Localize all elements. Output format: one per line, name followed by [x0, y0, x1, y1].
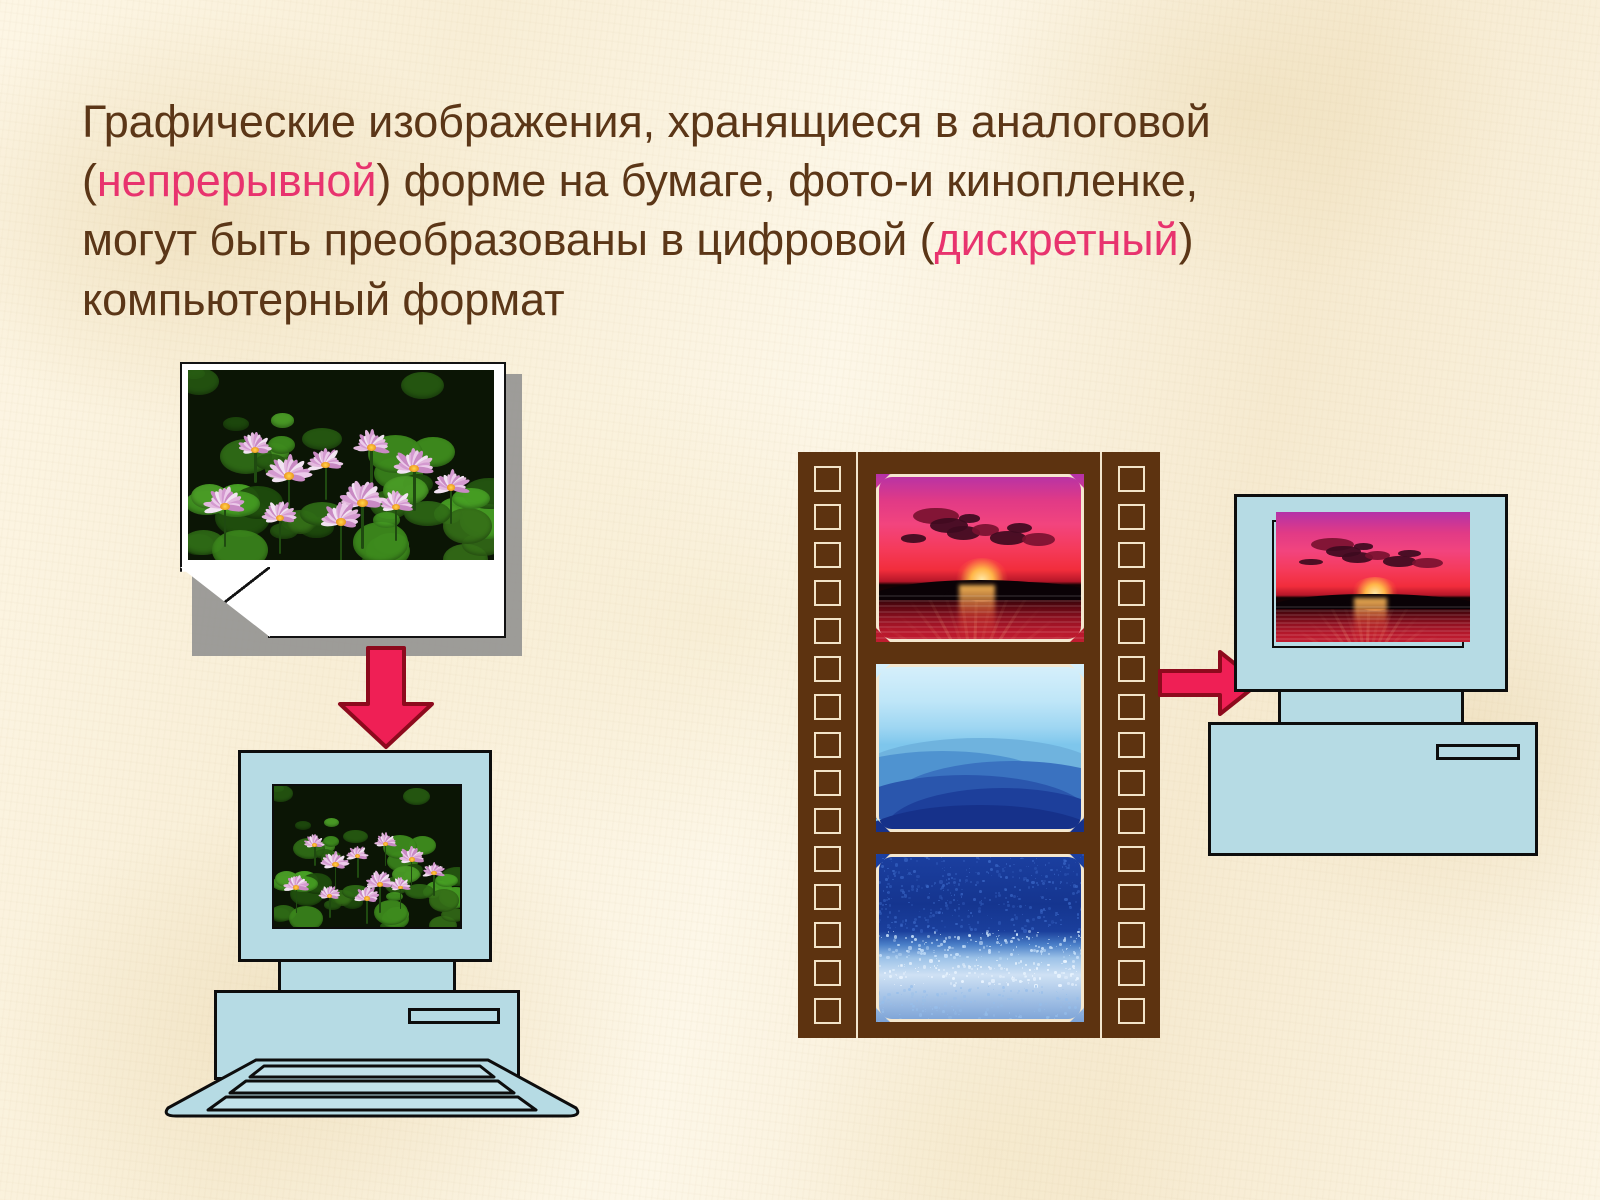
film-divider-left: [856, 452, 858, 1038]
frost-speck: [958, 904, 959, 905]
frost-speck: [971, 968, 973, 970]
frost-speck: [916, 879, 918, 881]
water-lily-flower: [354, 431, 388, 465]
frost-speck: [1005, 897, 1007, 899]
frost-speck: [1037, 865, 1038, 866]
frost-speck: [958, 883, 961, 886]
frost-speck: [938, 969, 940, 971]
frost-speck: [1004, 888, 1007, 891]
water-wave: [876, 611, 1084, 613]
frost-speck: [988, 860, 991, 863]
frost-speck: [1010, 858, 1011, 859]
frost-speck: [1002, 986, 1005, 989]
frost-speck: [887, 927, 888, 928]
title-line1-text: Графические изображения, хранящиеся в ан…: [82, 96, 1211, 147]
frost-speck: [1068, 1002, 1070, 1004]
frost-speck: [954, 894, 956, 896]
frost-speck: [1045, 910, 1046, 911]
frost-speck: [889, 970, 891, 972]
frost-speck: [951, 877, 953, 879]
film-perforation: [1118, 580, 1145, 606]
lily-pad: [188, 370, 219, 395]
frost-speck: [924, 943, 925, 944]
frost-speck: [936, 958, 937, 959]
frost-speck: [918, 944, 921, 947]
frost-speck: [1054, 1021, 1055, 1022]
frost-speck: [947, 949, 949, 951]
frost-speck: [1019, 889, 1021, 891]
frost-speck: [902, 891, 905, 894]
frost-speck: [910, 1003, 912, 1005]
frost-speck: [1060, 883, 1061, 884]
frost-speck: [940, 888, 942, 890]
frost-speck: [881, 908, 883, 910]
frost-speck: [995, 892, 997, 894]
film-perforation: [1118, 884, 1145, 910]
frost-speck: [1045, 864, 1046, 865]
frost-speck: [934, 882, 936, 884]
frost-speck: [1017, 896, 1018, 897]
frost-speck: [878, 1021, 880, 1022]
water-wave: [1276, 638, 1470, 640]
frost-speck: [992, 933, 993, 934]
frost-speck: [943, 890, 944, 891]
film-perforation: [814, 846, 841, 872]
frost-speck: [921, 887, 923, 889]
frost-speck: [1071, 983, 1074, 986]
frost-speck: [967, 942, 968, 943]
frost-speck: [1064, 898, 1067, 901]
film-perforation: [1118, 618, 1145, 644]
frost-speck: [885, 878, 887, 880]
frost-speck: [1010, 998, 1012, 1000]
frost-speck: [1046, 888, 1047, 889]
frost-speck: [1057, 914, 1058, 915]
frost-speck: [927, 919, 929, 921]
frost-speck: [968, 910, 969, 911]
frost-speck: [1041, 947, 1044, 950]
title-line2-rest: ) форме на бумаге, фото-и кинопленке,: [376, 155, 1198, 206]
frost-speck: [916, 890, 918, 892]
frost-speck: [1032, 886, 1034, 888]
frost-speck: [1022, 967, 1024, 969]
frost-speck: [1082, 986, 1083, 987]
frost-speck: [879, 965, 881, 967]
frost-speck: [987, 934, 989, 936]
frost-speck: [1027, 979, 1029, 981]
frost-speck: [942, 912, 944, 914]
frost-speck: [1069, 968, 1072, 971]
frost-speck: [890, 1003, 892, 1005]
frost-speck: [1021, 999, 1024, 1002]
frost-speck: [1068, 867, 1070, 869]
frost-speck: [917, 951, 920, 954]
lily-pad: [212, 530, 268, 560]
frost-speck: [1028, 937, 1031, 940]
frost-speck: [1072, 882, 1073, 883]
frost-speck: [1069, 906, 1071, 908]
frost-speck: [1073, 871, 1075, 873]
frost-speck: [888, 898, 890, 900]
frost-speck: [970, 912, 972, 914]
monitor-right-neck: [1278, 692, 1464, 724]
frost-speck: [1036, 882, 1038, 884]
water-wave: [1276, 606, 1470, 608]
frost-speck: [948, 1016, 951, 1019]
frost-speck: [962, 902, 965, 905]
lily-pad: [295, 821, 311, 829]
water-lily-flower: [284, 876, 308, 900]
frost-speck: [1048, 862, 1050, 864]
frost-speck: [1082, 1014, 1083, 1015]
frost-speck: [1037, 963, 1040, 966]
frost-speck: [968, 934, 971, 937]
frost-speck: [922, 996, 924, 998]
frost-speck: [1025, 964, 1027, 966]
frost-speck: [911, 888, 914, 891]
frost-speck: [969, 926, 972, 929]
frost-speck: [899, 976, 902, 979]
film-perforation: [814, 618, 841, 644]
frost-speck: [947, 1014, 948, 1015]
frost-speck: [947, 889, 949, 891]
frost-speck: [1025, 989, 1028, 992]
frost-speck: [877, 904, 879, 906]
frost-speck: [885, 904, 887, 906]
frost-speck: [918, 916, 921, 919]
lily-pad: [403, 788, 430, 805]
frost-speck: [952, 967, 954, 969]
frost-speck: [1082, 944, 1084, 946]
frost-speck: [1082, 854, 1084, 856]
water-lily-flower: [355, 887, 379, 911]
sunset-cloud: [990, 531, 1025, 544]
frost-speck: [978, 957, 979, 958]
frost-speck: [887, 916, 889, 918]
film-perforation: [1118, 694, 1145, 720]
frost-speck: [900, 964, 903, 967]
frost-speck: [900, 924, 903, 927]
frost-speck: [1068, 902, 1071, 905]
frost-speck: [900, 985, 901, 986]
frost-speck: [922, 940, 924, 942]
frost-speck: [954, 909, 956, 911]
frost-speck: [1016, 1016, 1017, 1017]
frost-speck: [944, 954, 947, 957]
frost-speck: [1026, 919, 1029, 922]
frost-speck: [895, 949, 897, 951]
frost-speck: [925, 942, 926, 943]
frost-speck: [970, 928, 973, 931]
frost-speck: [1047, 969, 1048, 970]
sun-reflection: [959, 585, 994, 642]
frost-speck: [954, 885, 955, 886]
frost-speck: [942, 975, 945, 978]
frost-speck: [901, 994, 902, 995]
frost-speck: [911, 904, 913, 906]
frost-speck: [997, 938, 998, 939]
frost-speck: [911, 874, 912, 875]
frost-speck: [898, 910, 900, 912]
frost-speck: [1000, 1004, 1003, 1007]
frost-speck: [993, 989, 994, 990]
sunset-cloud: [1398, 550, 1421, 558]
lily-pad: [223, 417, 249, 431]
frost-speck: [998, 894, 1001, 897]
frost-speck: [878, 919, 879, 920]
frost-speck: [911, 941, 913, 943]
frost-speck: [963, 995, 966, 998]
frost-speck: [1028, 886, 1031, 889]
water-lily-flower: [423, 863, 444, 884]
sunset-cloud: [1412, 558, 1443, 568]
lily-center: [392, 504, 400, 510]
frost-speck: [1033, 977, 1036, 980]
frost-speck: [932, 927, 934, 929]
frost-speck: [1034, 862, 1035, 863]
frost-speck: [912, 928, 915, 931]
frost-speck: [941, 920, 943, 922]
frost-speck: [980, 966, 982, 968]
frost-speck: [1064, 1012, 1067, 1015]
frost-speck: [1060, 924, 1062, 926]
frost-speck: [958, 1014, 959, 1015]
film-frame-3: [876, 854, 1084, 1022]
frost-speck: [960, 893, 963, 896]
frost-speck: [979, 941, 982, 944]
frost-speck: [968, 989, 971, 992]
frost-speck: [930, 967, 931, 968]
frost-speck: [952, 915, 953, 916]
frost-speck: [1076, 977, 1079, 980]
frost-speck: [904, 964, 905, 965]
frost-speck: [1061, 963, 1063, 965]
frost-speck: [879, 954, 882, 957]
frost-speck: [917, 971, 919, 973]
film-strip: [798, 452, 1160, 1038]
sunset-cloud: [959, 514, 980, 522]
frost-speck: [989, 946, 991, 948]
sunset-cloud: [1022, 533, 1055, 546]
frost-speck: [1069, 955, 1070, 956]
frost-speck: [1032, 918, 1035, 921]
frost-speck: [895, 871, 897, 873]
frost-speck: [977, 872, 980, 875]
lily-center: [367, 444, 376, 451]
frost-speck: [923, 952, 926, 955]
frost-speck: [936, 968, 937, 969]
frost-speck: [892, 969, 894, 971]
frost-speck: [1063, 1003, 1065, 1005]
frost-speck: [965, 882, 966, 883]
frost-speck: [1070, 857, 1072, 859]
frost-speck: [883, 1007, 884, 1008]
frost-speck: [955, 923, 957, 925]
frost-speck: [898, 953, 901, 956]
frost-speck: [991, 1022, 994, 1023]
frost-speck: [898, 965, 900, 967]
frost-speck: [1012, 871, 1014, 873]
frost-speck: [1028, 982, 1030, 984]
frost-speck: [1059, 855, 1061, 857]
frost-speck: [1033, 962, 1035, 964]
frost-speck: [1041, 986, 1043, 988]
frost-speck: [955, 888, 958, 891]
frost-speck: [1082, 904, 1084, 907]
frost-speck: [1055, 922, 1057, 924]
frost-speck: [1082, 949, 1084, 952]
frost-speck: [934, 965, 935, 966]
frost-speck: [986, 973, 988, 975]
frost-speck: [901, 885, 903, 887]
frost-speck: [1083, 1009, 1084, 1011]
frost-speck: [1014, 886, 1016, 888]
frost-speck: [1022, 938, 1024, 940]
frost-speck: [982, 933, 984, 935]
frost-speck: [991, 918, 992, 919]
frost-speck: [974, 928, 977, 931]
frost-speck: [977, 921, 979, 923]
frost-speck: [990, 868, 993, 871]
frost-speck: [1054, 1018, 1055, 1019]
frost-speck: [908, 890, 909, 891]
frost-speck: [923, 1007, 924, 1008]
frost-speck: [1007, 901, 1009, 903]
frost-speck: [925, 884, 928, 887]
frost-speck: [905, 971, 906, 972]
lily-center: [251, 447, 259, 453]
frost-speck: [890, 858, 892, 860]
frost-speck: [1050, 869, 1053, 872]
frost-speck: [924, 917, 926, 919]
frost-speck: [947, 900, 948, 901]
lily-center: [293, 885, 299, 890]
frost-speck: [976, 881, 979, 884]
water-wave: [876, 616, 1084, 618]
lily-pad: [401, 372, 444, 399]
frost-speck: [987, 993, 990, 996]
frost-speck: [990, 856, 992, 858]
lily-pad: [271, 413, 294, 428]
frost-speck: [946, 907, 949, 910]
frost-speck: [995, 864, 998, 867]
frost-speck: [1063, 956, 1065, 958]
frost-speck: [949, 974, 950, 975]
frost-speck: [905, 937, 907, 939]
frost-speck: [886, 934, 889, 937]
frost-speck: [1015, 916, 1018, 919]
frost-speck: [941, 1020, 942, 1021]
frost-speck: [906, 927, 908, 929]
frost-speck: [912, 1009, 913, 1010]
frost-speck: [926, 994, 928, 996]
frost-speck: [1004, 968, 1005, 969]
film-perforation: [1118, 998, 1145, 1024]
frost-speck: [949, 901, 951, 903]
frost-speck: [1018, 1016, 1020, 1018]
frost-speck: [938, 911, 941, 914]
frost-speck: [1070, 936, 1072, 938]
frost-speck: [1051, 920, 1054, 923]
frost-speck: [960, 987, 962, 989]
frost-speck: [954, 971, 957, 974]
frost-speck: [911, 935, 914, 938]
frost-speck: [887, 999, 890, 1002]
frost-speck: [991, 975, 993, 977]
frost-speck: [935, 929, 938, 932]
frost-speck: [916, 1000, 918, 1002]
frost-speck: [1013, 924, 1015, 926]
keyboard-left: [160, 1058, 584, 1120]
frost-speck: [983, 946, 985, 948]
frost-speck: [918, 948, 921, 951]
frost-speck: [1007, 958, 1009, 960]
frost-speck: [917, 885, 920, 888]
frost-speck: [998, 904, 999, 905]
frost-speck: [908, 902, 910, 904]
frost-speck: [882, 1011, 883, 1012]
frost-speck: [950, 892, 952, 894]
sunset-cloud: [1383, 556, 1416, 566]
frost-speck: [906, 950, 907, 951]
frost-speck: [919, 854, 921, 856]
frost-speck: [1056, 946, 1057, 947]
frost-speck: [991, 875, 992, 876]
frost-speck: [1006, 863, 1008, 865]
film-perforation: [814, 960, 841, 986]
frost-speck: [970, 1001, 972, 1003]
frost-speck: [1005, 909, 1007, 911]
frost-speck: [1048, 953, 1050, 955]
frost-speck: [960, 925, 963, 928]
water-wave: [1276, 618, 1470, 620]
frost-speck: [1013, 864, 1015, 866]
frost-speck: [951, 1006, 952, 1007]
frost-speck: [1009, 1018, 1012, 1021]
frost-speck: [998, 921, 1001, 924]
frost-speck: [941, 897, 944, 900]
frost-speck: [1023, 929, 1026, 932]
frost-speck: [927, 935, 930, 938]
frost-speck: [1039, 854, 1042, 857]
frost-speck: [1076, 971, 1077, 972]
frost-speck: [905, 923, 906, 924]
film-perforation: [1118, 808, 1145, 834]
frost-speck: [957, 1005, 959, 1007]
frost-speck: [920, 929, 923, 932]
frost-speck: [1065, 968, 1067, 970]
frost-speck: [989, 899, 991, 901]
frost-speck: [919, 1013, 922, 1016]
frost-speck: [1064, 860, 1067, 863]
frost-speck: [998, 994, 1001, 997]
frost-speck: [1005, 941, 1008, 944]
frost-speck: [953, 984, 956, 987]
frost-speck: [1007, 904, 1009, 906]
frost-speck: [1043, 916, 1046, 919]
frost-speck: [943, 940, 946, 943]
frost-speck: [973, 898, 976, 901]
frost-speck: [1012, 876, 1014, 878]
frost-speck: [1061, 972, 1063, 974]
frost-speck: [886, 1018, 889, 1021]
water-lily-flower: [206, 488, 244, 526]
frost-speck: [945, 937, 948, 940]
frost-speck: [987, 915, 988, 916]
frost-speck: [998, 873, 1001, 876]
frost-speck: [979, 890, 982, 893]
frost-speck: [1058, 984, 1061, 987]
